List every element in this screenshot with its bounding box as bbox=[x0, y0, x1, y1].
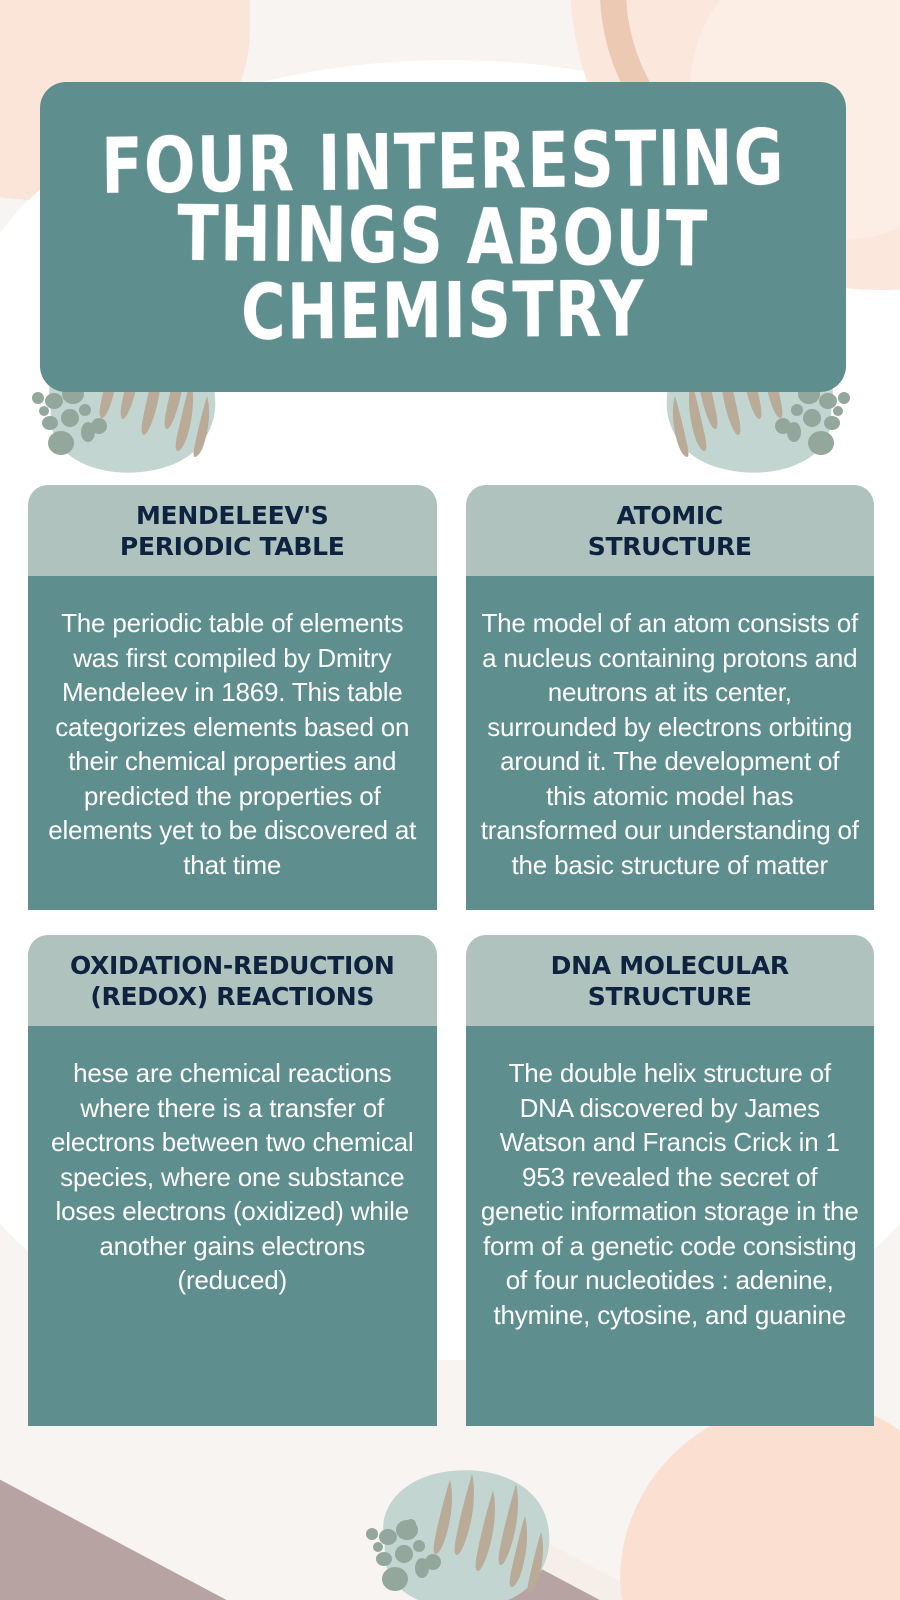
card-description-1: The periodic table of elements was first… bbox=[42, 606, 423, 883]
card-body-3: hese are chemical reactions where there … bbox=[28, 1026, 437, 1426]
leaf-blob-bottom-icon bbox=[348, 1442, 568, 1600]
card-header-3: OXIDATION-REDUCTION (REDOX) REACTIONS bbox=[28, 935, 437, 1026]
card-header-4: DNA MOLECULAR STRUCTURE bbox=[466, 935, 875, 1026]
card-description-3: hese are chemical reactions where there … bbox=[42, 1056, 423, 1298]
mauve-band-gap-left-shape bbox=[0, 1454, 254, 1600]
peach-blob-bottom-right-shape bbox=[620, 1400, 900, 1600]
card-title-4: DNA MOLECULAR STRUCTURE bbox=[476, 951, 865, 1012]
card-body-1: The periodic table of elements was first… bbox=[28, 576, 437, 910]
card-description-2: The model of an atom consists of a nucle… bbox=[480, 606, 861, 883]
card-title-3: OXIDATION-REDUCTION (REDOX) REACTIONS bbox=[38, 951, 427, 1012]
fact-card-atomic-structure: ATOMIC STRUCTURE The model of an atom co… bbox=[466, 485, 875, 910]
infographic-poster: FOUR INTERESTING THINGS ABOUT CHEMISTRY … bbox=[0, 0, 900, 1600]
card-body-2: The model of an atom consists of a nucle… bbox=[466, 576, 875, 910]
poster-title: FOUR INTERESTING THINGS ABOUT CHEMISTRY bbox=[88, 125, 799, 349]
card-description-4: The double helix structure of DNA discov… bbox=[480, 1056, 861, 1333]
fact-card-dna-molecular-structure: DNA MOLECULAR STRUCTURE The double helix… bbox=[466, 935, 875, 1426]
title-banner: FOUR INTERESTING THINGS ABOUT CHEMISTRY bbox=[40, 82, 846, 392]
mauve-band-left-lower-shape bbox=[0, 1481, 406, 1600]
card-body-4: The double helix structure of DNA discov… bbox=[466, 1026, 875, 1426]
card-title-2: ATOMIC STRUCTURE bbox=[476, 501, 865, 562]
card-header-1: MENDELEEV'S PERIODIC TABLE bbox=[28, 485, 437, 576]
fact-card-oxidation-reduction-redox-reactions: OXIDATION-REDUCTION (REDOX) REACTIONS he… bbox=[28, 935, 437, 1426]
fact-card-grid: MENDELEEV'S PERIODIC TABLE The periodic … bbox=[28, 485, 874, 1426]
card-header-2: ATOMIC STRUCTURE bbox=[466, 485, 875, 576]
fact-card-mendeleevs-periodic-table: MENDELEEV'S PERIODIC TABLE The periodic … bbox=[28, 485, 437, 910]
poster-title-line-3: CHEMISTRY bbox=[101, 271, 785, 352]
card-title-1: MENDELEEV'S PERIODIC TABLE bbox=[38, 501, 427, 562]
